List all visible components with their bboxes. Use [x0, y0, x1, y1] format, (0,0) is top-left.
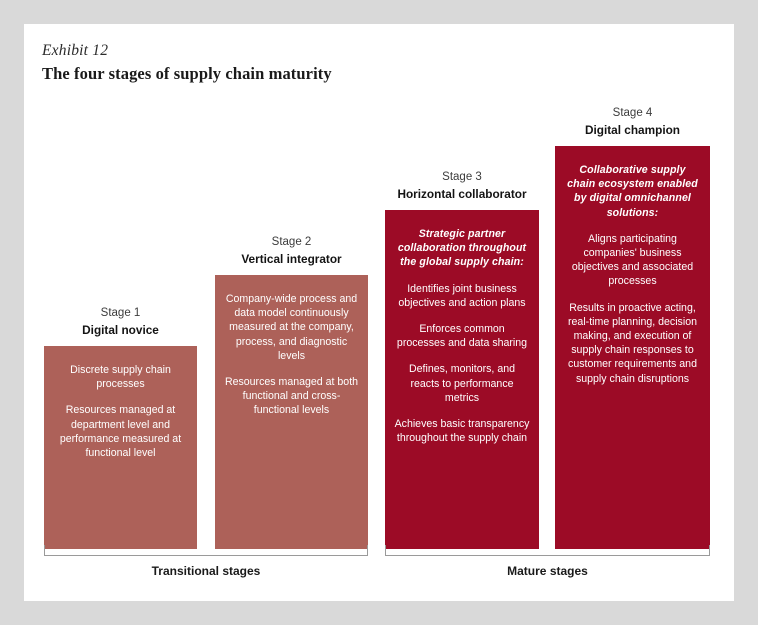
stage-2-number: Stage 2: [215, 235, 368, 250]
stage-3-item-2: Enforces common processes and data shari…: [394, 322, 530, 350]
stage-column-4: Stage 4 Digital champion Collaborative s…: [555, 106, 710, 549]
stage-4-bar[interactable]: Collaborative supply chain ecosystem ena…: [555, 146, 710, 549]
stage-column-3: Stage 3 Horizontal collaborator Strategi…: [385, 170, 539, 549]
stage-column-1: Stage 1 Digital novice Discrete supply c…: [44, 306, 197, 549]
stage-1-item-2: Resources managed at department level an…: [53, 403, 188, 460]
stage-3-lead: Strategic partner collaboration througho…: [394, 227, 530, 270]
bracket-mature: [385, 545, 710, 556]
stage-1-number: Stage 1: [44, 306, 197, 321]
stage-4-item-1: Aligns participating companies' business…: [564, 232, 701, 289]
stage-column-2: Stage 2 Vertical integrator Company-wide…: [215, 235, 368, 549]
stage-2-name: Vertical integrator: [215, 251, 368, 268]
stage-3-bar[interactable]: Strategic partner collaboration througho…: [385, 210, 539, 549]
stage-4-number: Stage 4: [555, 106, 710, 121]
stage-3-name: Horizontal collaborator: [385, 186, 539, 203]
stage-2-item-1: Company-wide process and data model cont…: [224, 292, 359, 363]
page-title: The four stages of supply chain maturity: [42, 64, 332, 84]
bracket-transitional: [44, 545, 368, 556]
stage-2-heading: Stage 2 Vertical integrator: [215, 235, 368, 268]
stage-4-lead: Collaborative supply chain ecosystem ena…: [564, 163, 701, 220]
stage-2-item-2: Resources managed at both functional and…: [224, 375, 359, 418]
stage-2-bar[interactable]: Company-wide process and data model cont…: [215, 275, 368, 549]
stage-3-heading: Stage 3 Horizontal collaborator: [385, 170, 539, 203]
stage-3-item-1: Identifies joint business objectives and…: [394, 282, 530, 310]
stage-3-item-4: Achieves basic transparency throughout t…: [394, 417, 530, 445]
bracket-label-transitional: Transitional stages: [44, 564, 368, 578]
exhibit-card: Exhibit 12 The four stages of supply cha…: [24, 24, 734, 601]
stage-3-number: Stage 3: [385, 170, 539, 185]
stage-4-name: Digital champion: [555, 122, 710, 139]
stage-1-name: Digital novice: [44, 322, 197, 339]
stage-1-heading: Stage 1 Digital novice: [44, 306, 197, 339]
stage-4-item-2: Results in proactive acting, real-time p…: [564, 301, 701, 386]
bracket-label-mature: Mature stages: [385, 564, 710, 578]
stage-3-item-3: Defines, monitors, and reacts to perform…: [394, 362, 530, 405]
stage-1-bar[interactable]: Discrete supply chain processes Resource…: [44, 346, 197, 549]
exhibit-label: Exhibit 12: [42, 42, 332, 60]
stage-4-heading: Stage 4 Digital champion: [555, 106, 710, 139]
header: Exhibit 12 The four stages of supply cha…: [42, 42, 332, 84]
stage-1-item-1: Discrete supply chain processes: [53, 363, 188, 391]
